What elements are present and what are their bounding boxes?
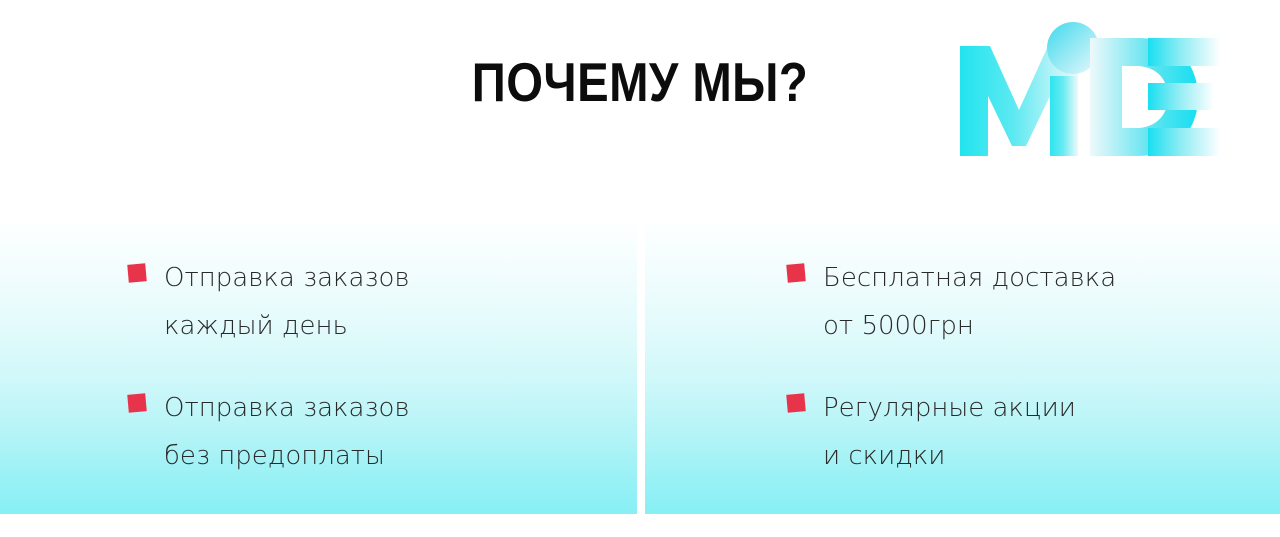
list-item: Бесплатная доставка от 5000грн [787, 254, 1116, 350]
list-item-label: Регулярные акции и скидки [823, 384, 1076, 480]
list-item-label: Бесплатная доставка от 5000грн [823, 254, 1116, 350]
mide-brand-logo [952, 18, 1220, 163]
red-square-bullet-icon [786, 393, 806, 413]
header-banner: ПОЧЕМУ МЫ? [0, 0, 1280, 224]
feature-list-right: Бесплатная доставка от 5000грн Регулярны… [0, 224, 1280, 514]
features-panel-right: Бесплатная доставка от 5000грн Регулярны… [645, 224, 1280, 514]
logo-letter-e [1148, 38, 1220, 156]
red-square-bullet-icon [786, 263, 806, 283]
list-item: Регулярные акции и скидки [787, 384, 1076, 480]
